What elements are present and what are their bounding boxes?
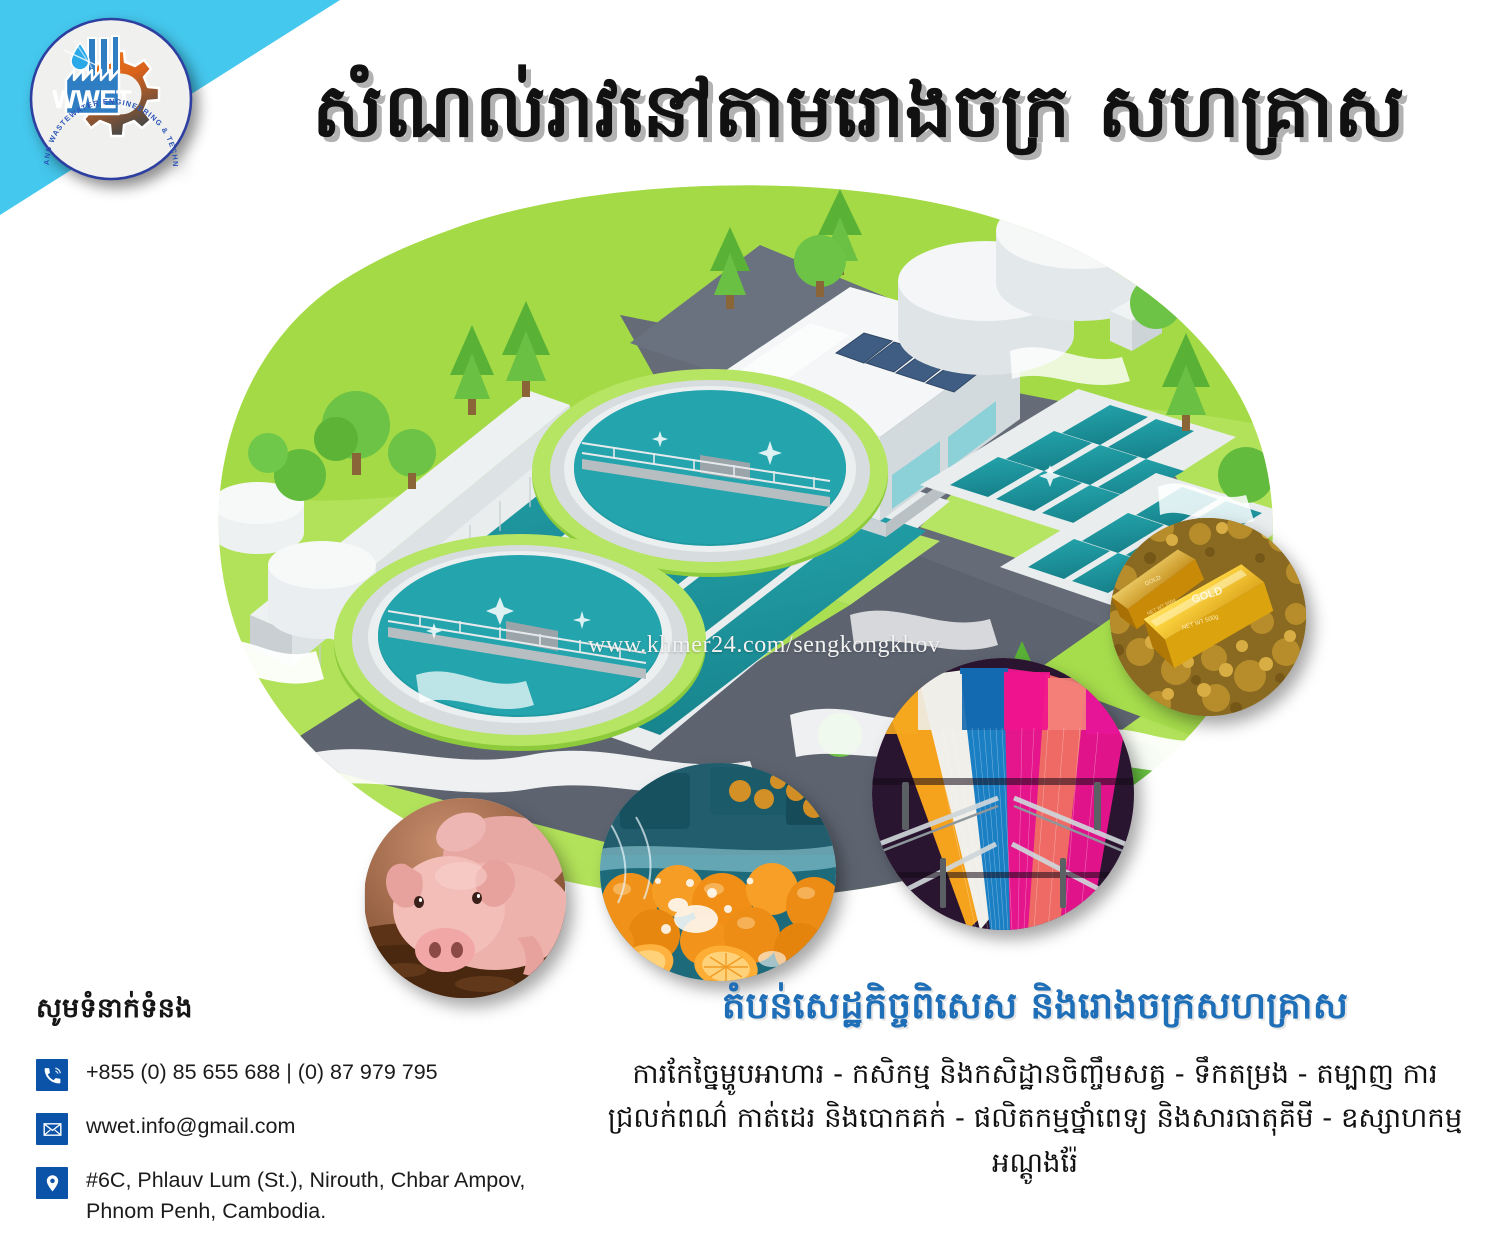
contact-email-value[interactable]: wwet.info@gmail.com <box>86 1111 295 1142</box>
photo-textile-mill-threads <box>872 658 1134 930</box>
poster-headline: សំណល់រាវនៅតាមរោងចក្រ សហគ្រាស <box>228 52 1490 172</box>
contact-address-value[interactable]: #6C, Phlauv Lum (St.), Nirouth, Chbar Am… <box>86 1165 546 1226</box>
contact-row-address: #6C, Phlauv Lum (St.), Nirouth, Chbar Am… <box>36 1165 546 1226</box>
contact-title: សូមទំនាក់ទំនង <box>36 992 546 1031</box>
poster-headline-text: សំណល់រាវនៅតាមរោងចក្រ សហគ្រាស <box>312 74 1405 149</box>
contact-block: សូមទំនាក់ទំនង +855 (0) 85 655 688 | (0) … <box>36 992 546 1246</box>
poster-root: WWET WATER AND WASTEWATER ENGINEERING & … <box>0 0 1500 1257</box>
contact-row-email: wwet.info@gmail.com <box>36 1111 546 1145</box>
envelope-icon <box>36 1113 68 1145</box>
photo-gold-mining-bars: GOLD NET WT 500g GOLD NET WT 500g <box>1110 518 1306 716</box>
sectors-body: ការកែច្នៃម្ហូបអាហារ - កសិកម្ម និងកសិដ្ឋា… <box>570 1052 1500 1186</box>
photo-food-processing-oranges <box>600 763 836 981</box>
contact-row-phone: +855 (0) 85 655 688 | (0) 87 979 795 <box>36 1057 546 1091</box>
phone-icon <box>36 1059 68 1091</box>
photo-livestock-pig-farm <box>364 798 566 998</box>
sectors-heading: តំបន់សេដ្ឋកិច្ចពិសេស និងរោងចក្រសហគ្រាស <box>570 985 1500 1028</box>
contact-phone-value[interactable]: +855 (0) 85 655 688 | (0) 87 979 795 <box>86 1057 438 1088</box>
sectors-block: តំបន់សេដ្ឋកិច្ចពិសេស និងរោងចក្រសហគ្រាស ក… <box>570 985 1500 1185</box>
wwet-logo: WWET WATER AND WASTEWATER ENGINEERING & … <box>26 14 196 184</box>
location-pin-icon <box>36 1167 68 1199</box>
